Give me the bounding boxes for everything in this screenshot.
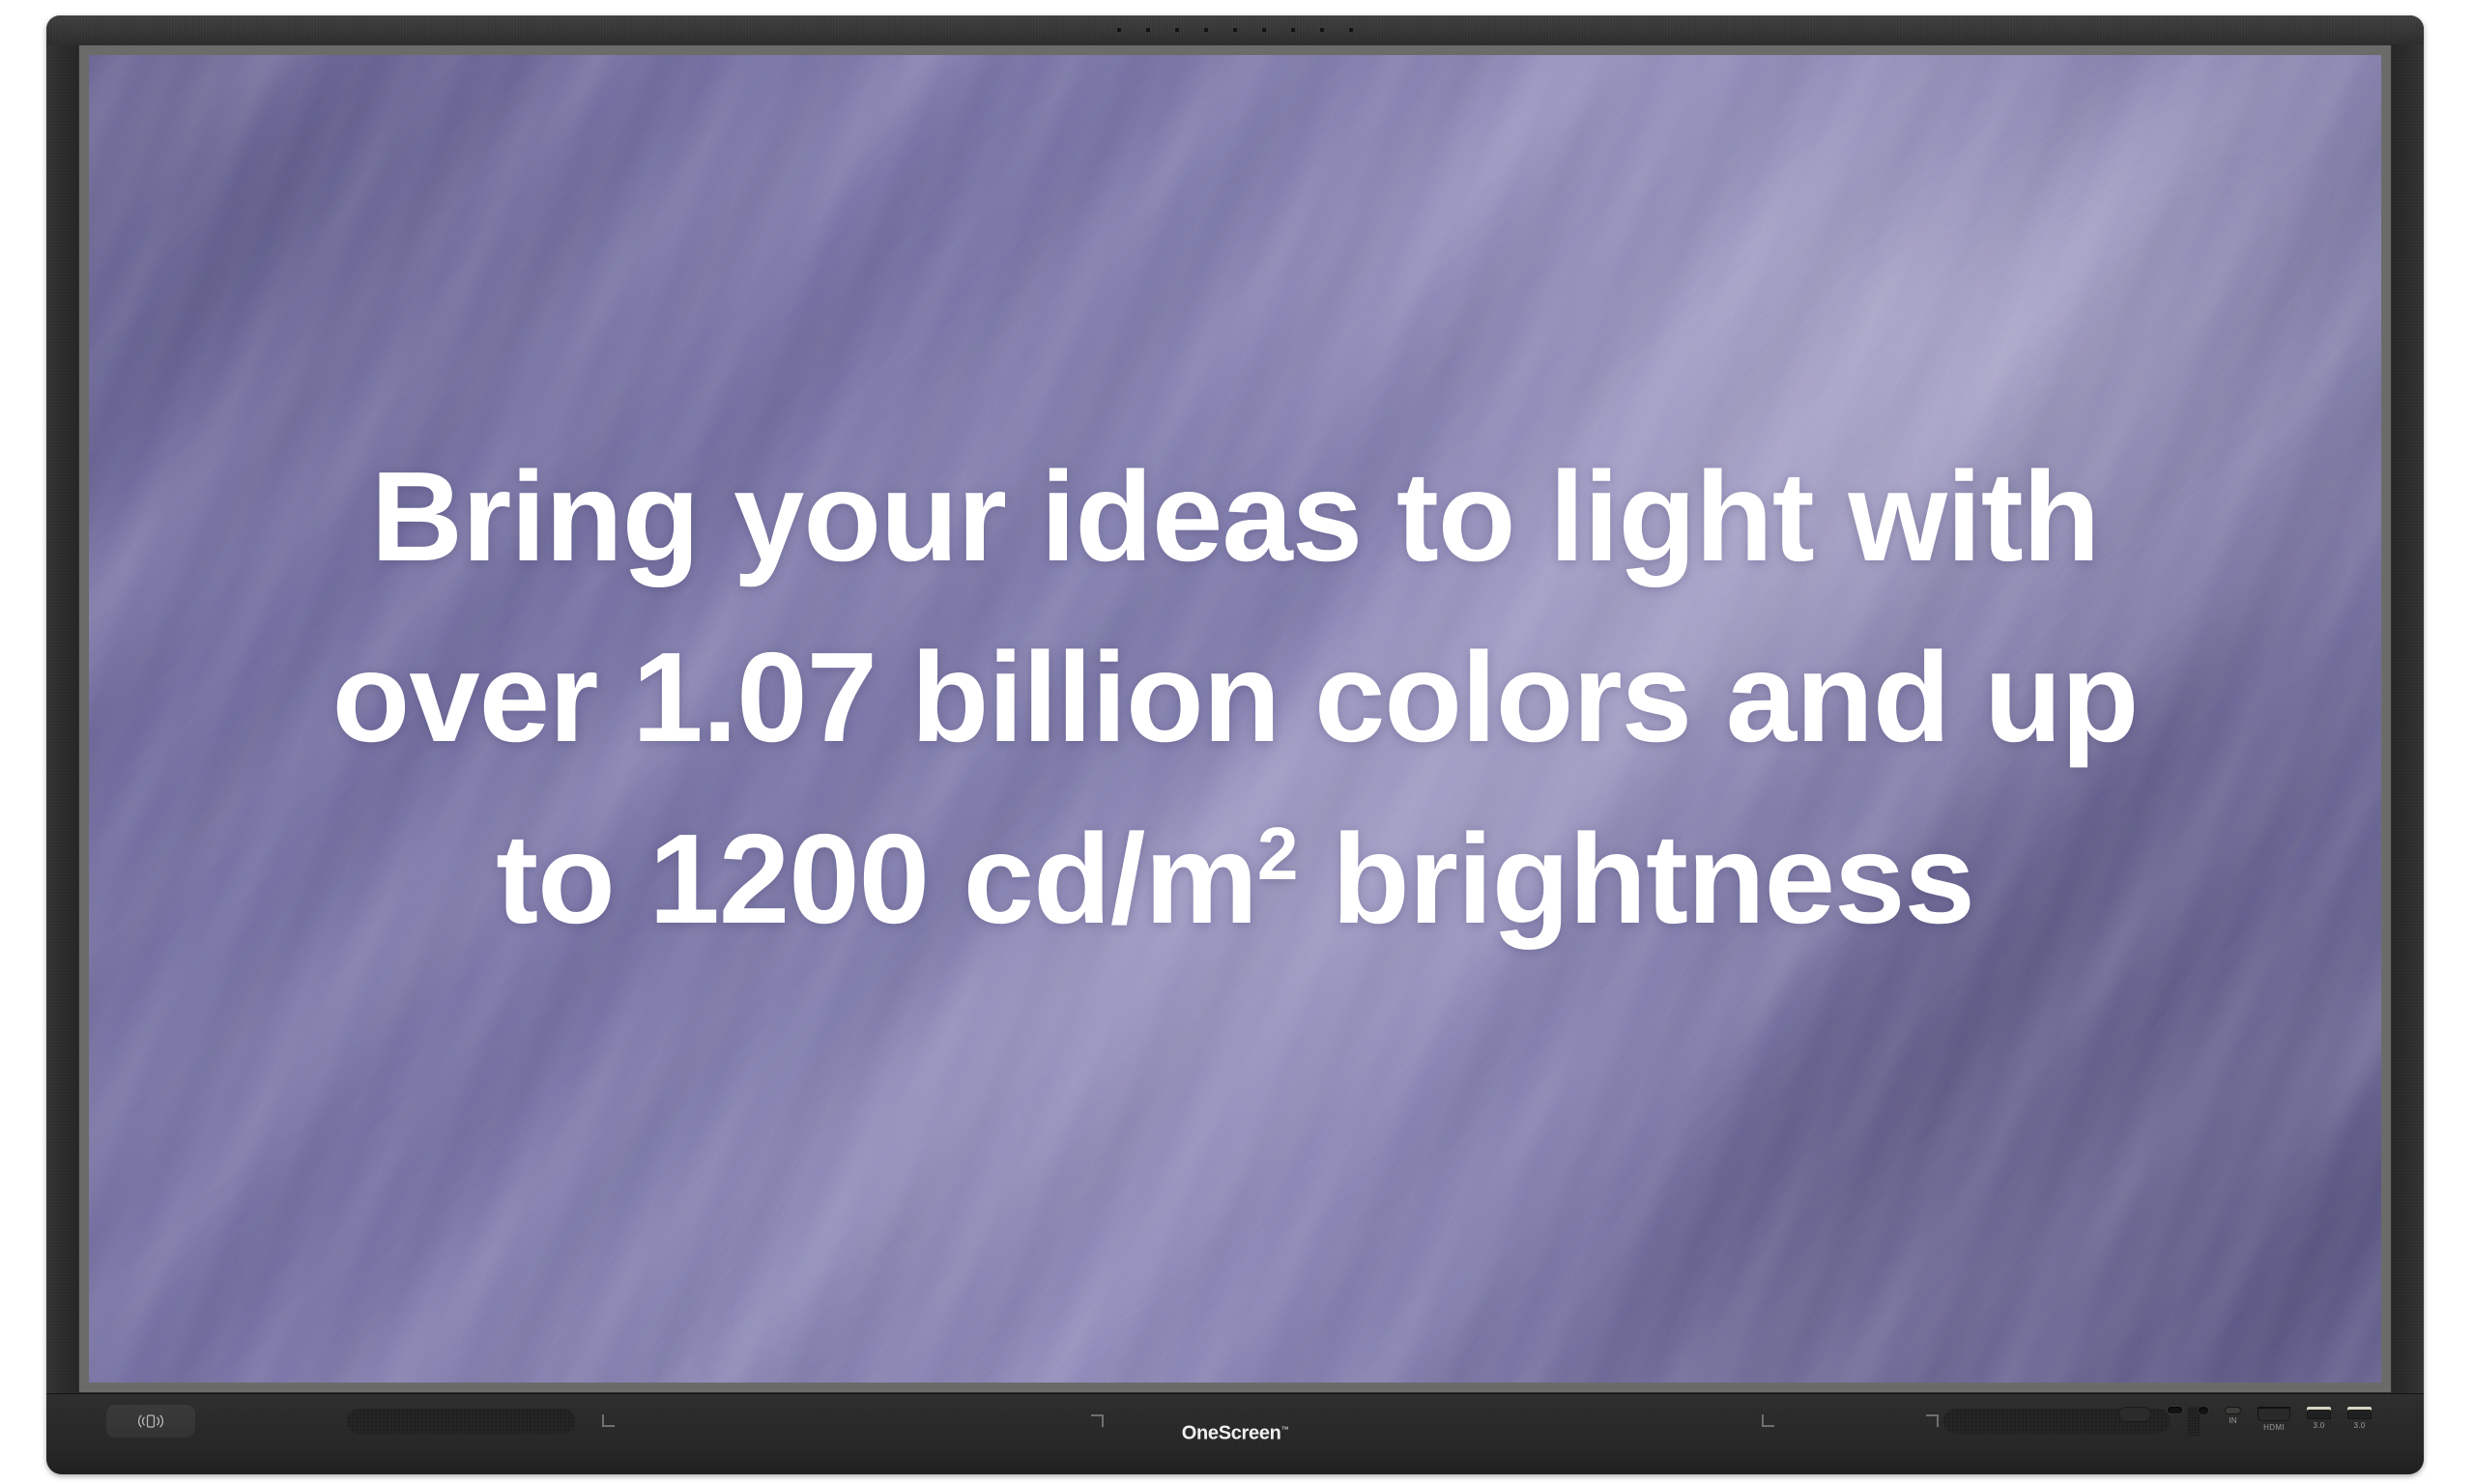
- usb-a-port-icon: [2307, 1407, 2331, 1419]
- usb-c-in-port[interactable]: IN: [2225, 1407, 2241, 1425]
- power-button[interactable]: [2118, 1407, 2151, 1425]
- headline-line-3-prefix: to 1200 cd/m: [496, 808, 1257, 950]
- nfc-tap-button[interactable]: [106, 1405, 195, 1438]
- port-cluster: IN HDMI 3.0 3.0: [2118, 1407, 2372, 1461]
- headline-line-3-suffix: brightness: [1297, 808, 1973, 950]
- port-label: IN: [2229, 1417, 2237, 1425]
- hdmi-port-icon: [2258, 1407, 2290, 1421]
- ir-frame-bracket: [1762, 1414, 1774, 1427]
- usb-a-port-1[interactable]: 3.0: [2307, 1407, 2331, 1430]
- usb-c-port-icon: [2225, 1407, 2241, 1414]
- headline-container: Bring your ideas to light with over 1.07…: [89, 55, 2381, 1383]
- hdmi-port[interactable]: HDMI: [2258, 1407, 2290, 1432]
- screenshot-canvas: Bring your ideas to light with over 1.07…: [0, 0, 2474, 1484]
- port-label: 3.0: [2313, 1422, 2324, 1430]
- port-label: 3.0: [2353, 1422, 2365, 1430]
- brand-name: OneScreen: [1182, 1423, 1281, 1444]
- brand-logo: OneScreen™: [1182, 1423, 1289, 1445]
- trademark-symbol: ™: [1281, 1425, 1289, 1434]
- microphone-dot: [1349, 28, 1353, 32]
- usb-a-port-icon: [2347, 1407, 2372, 1419]
- ir-frame-bracket: [602, 1414, 615, 1427]
- audio-jack-icon: [2168, 1407, 2182, 1413]
- microphone-dot: [1320, 28, 1324, 32]
- bottom-bezel: OneScreen™: [46, 1393, 2424, 1474]
- left-bezel: [46, 44, 78, 1393]
- microphone-array: [46, 28, 2424, 34]
- headline-line-3: to 1200 cd/m2 brightness: [182, 788, 2288, 969]
- right-bezel: [2392, 44, 2424, 1393]
- power-button-icon: [2118, 1407, 2151, 1422]
- headline-line-2: over 1.07 billion colors and up: [182, 607, 2288, 787]
- mic-jack[interactable]: [2199, 1407, 2208, 1417]
- interactive-display-unit: Bring your ideas to light with over 1.07…: [46, 15, 2424, 1474]
- top-bezel: [46, 15, 2424, 44]
- usb-a-port-2[interactable]: 3.0: [2347, 1407, 2372, 1430]
- headline-superscript-two: 2: [1257, 813, 1298, 896]
- ir-frame-bracket: [1091, 1414, 1104, 1427]
- microphone-dot: [1204, 28, 1208, 32]
- panel-inner-border: Bring your ideas to light with over 1.07…: [78, 44, 2392, 1393]
- audio-jack[interactable]: [2168, 1407, 2182, 1416]
- mic-jack-icon: [2199, 1407, 2208, 1414]
- microphone-dot: [1146, 28, 1150, 32]
- microphone-dot: [1262, 28, 1266, 32]
- microphone-dot: [1117, 28, 1121, 32]
- ir-frame-bracket: [1926, 1414, 1939, 1427]
- bezel-divider: [46, 1393, 2424, 1394]
- headline-line-1: Bring your ideas to light with: [182, 426, 2288, 607]
- speaker-grille-left: [346, 1408, 576, 1435]
- microphone-dot: [1233, 28, 1237, 32]
- port-label: HDMI: [2263, 1424, 2285, 1432]
- microphone-dot: [1175, 28, 1179, 32]
- display-screen[interactable]: Bring your ideas to light with over 1.07…: [89, 55, 2381, 1383]
- nfc-tap-icon: [134, 1412, 167, 1431]
- marketing-headline: Bring your ideas to light with over 1.07…: [182, 426, 2288, 969]
- microphone-dot: [1291, 28, 1295, 32]
